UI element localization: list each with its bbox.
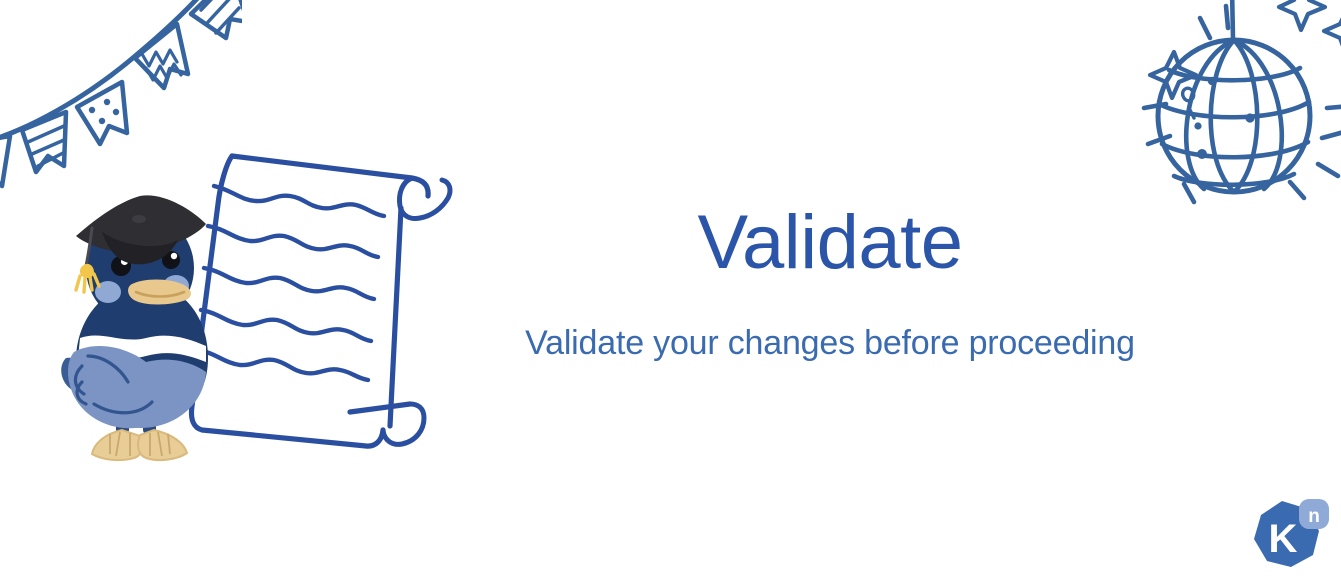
logo-letter-k: K [1269, 517, 1298, 561]
party-bunting-icon [0, 0, 242, 190]
hero-text-block: Validate Validate your changes before pr… [475, 205, 1185, 362]
graduate-bird-mascot [58, 186, 233, 466]
logo-letter-n: n [1308, 506, 1320, 527]
kn-logo-badge[interactable]: K n [1247, 497, 1329, 577]
page-subtitle: Validate your changes before proceeding [475, 325, 1185, 362]
bird-legs [116, 408, 156, 434]
slide-canvas: Validate Validate your changes before pr… [0, 0, 1341, 585]
page-title: Validate [475, 205, 1185, 281]
bird-feet [92, 430, 187, 460]
graduation-cap-icon [76, 195, 206, 292]
disco-ball-icon [1122, 0, 1341, 221]
certificate-scroll-icon [180, 138, 465, 453]
